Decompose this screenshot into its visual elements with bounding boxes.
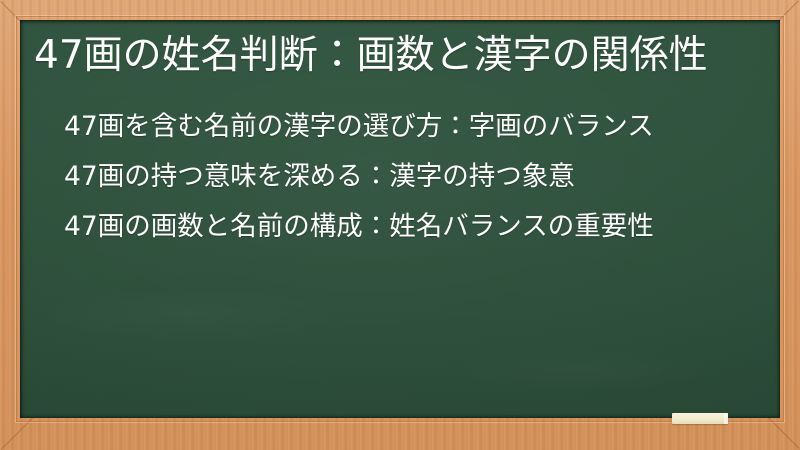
chalkboard-screenshot: 47画の姓名判断：画数と漢字の関係性 47画を含む名前の漢字の選び方：字画のバラ… — [0, 0, 800, 450]
list-item: 47画の画数と名前の構成：姓名バランスの重要性 — [34, 202, 774, 252]
page-title: 47画の姓名判断：画数と漢字の関係性 — [34, 28, 774, 84]
topic-list: 47画を含む名前の漢字の選び方：字画のバランス 47画の持つ意味を深める：漢字の… — [34, 102, 774, 252]
list-item: 47画の持つ意味を深める：漢字の持つ象意 — [34, 152, 774, 202]
list-item: 47画を含む名前の漢字の選び方：字画のバランス — [34, 102, 774, 152]
chalk-stick — [672, 413, 728, 424]
chalkboard-surface: 47画の姓名判断：画数と漢字の関係性 47画を含む名前の漢字の選び方：字画のバラ… — [20, 20, 780, 418]
